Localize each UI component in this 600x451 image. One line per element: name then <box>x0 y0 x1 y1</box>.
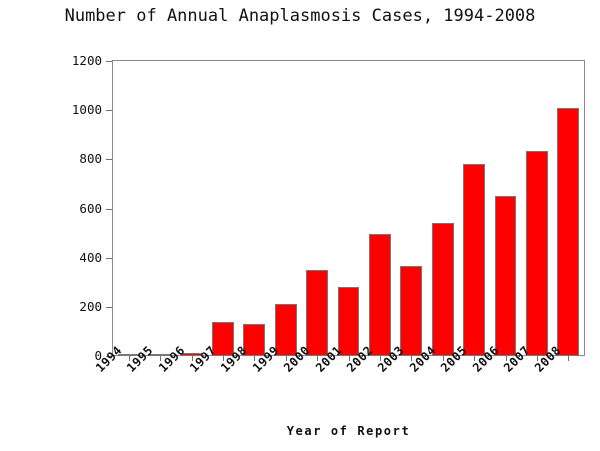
bar-2008 <box>557 108 579 356</box>
bar-2003 <box>400 266 422 356</box>
y-axis-tick-mark <box>106 307 112 308</box>
y-axis-tick-label: 400 <box>79 250 102 265</box>
y-axis-tick-mark <box>106 209 112 210</box>
bars-layer <box>113 61 584 356</box>
bar-2007 <box>526 151 548 356</box>
y-axis-tick-label: 800 <box>79 151 102 166</box>
y-axis-tick-mark <box>106 110 112 111</box>
y-axis-tick-label: 1000 <box>72 102 102 117</box>
y-axis-tick-label: 1200 <box>72 53 102 68</box>
y-axis-tick-mark <box>106 258 112 259</box>
bar-2005 <box>463 164 485 356</box>
y-axis-tick-mark <box>106 61 112 62</box>
bar-2006 <box>495 196 517 356</box>
bar-1999 <box>275 304 297 356</box>
x-axis-title: Year of Report <box>112 424 585 438</box>
y-axis-tick-label: 200 <box>79 299 102 314</box>
y-axis-tick-label: 600 <box>79 201 102 216</box>
bar-2002 <box>369 234 391 356</box>
chart-title: Number of Annual Anaplasmosis Cases, 199… <box>0 6 600 26</box>
bar-2001 <box>338 287 360 356</box>
bar-2004 <box>432 223 454 356</box>
bar-2000 <box>306 270 328 356</box>
x-axis-tick-mark <box>568 356 569 361</box>
y-axis-tick-mark <box>106 159 112 160</box>
